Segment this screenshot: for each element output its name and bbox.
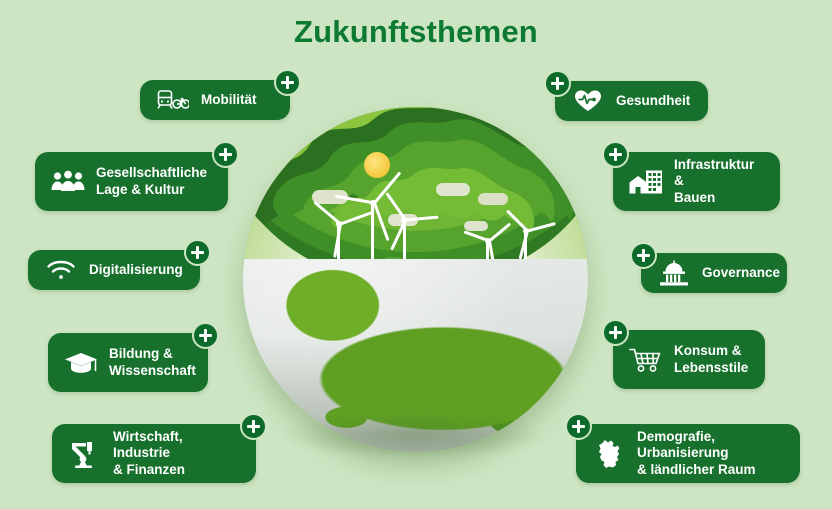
expand-button[interactable] — [602, 141, 629, 168]
government-dome-icon — [657, 258, 691, 288]
topic-label: Wirtschaft, Industrie & Finanzen — [113, 429, 240, 478]
page-title: Zukunftsthemen — [0, 14, 832, 50]
expand-button[interactable] — [192, 322, 219, 349]
expand-button[interactable] — [630, 242, 657, 269]
topic-label: Infrastruktur & Bauen — [674, 157, 764, 206]
topic-pill-governance[interactable]: Governance — [641, 253, 787, 293]
germany-map-icon — [592, 439, 626, 469]
topic-label: Konsum & Lebensstile — [674, 343, 748, 376]
heart-pulse-icon — [571, 86, 605, 116]
expand-button[interactable] — [274, 69, 301, 96]
expand-button[interactable] — [184, 239, 211, 266]
train-bicycle-icon — [156, 85, 190, 115]
topic-label: Digitalisierung — [89, 262, 183, 278]
robot-arm-icon — [68, 439, 102, 469]
topic-pill-demografie-urbanisierung[interactable]: Demografie, Urbanisierung & ländlicher R… — [576, 424, 800, 483]
sustainable-world-globe-illustration — [243, 107, 588, 452]
topic-pill-mobilitaet[interactable]: Mobilität — [140, 80, 290, 120]
sun-icon — [364, 152, 390, 178]
cloud-icon — [436, 183, 470, 196]
shopping-cart-icon — [629, 345, 663, 375]
topic-label: Demografie, Urbanisierung & ländlicher R… — [637, 429, 784, 478]
globe — [243, 107, 588, 452]
expand-button[interactable] — [565, 413, 592, 440]
topic-label: Governance — [702, 265, 780, 281]
expand-button[interactable] — [212, 141, 239, 168]
topic-label: Gesundheit — [616, 93, 690, 109]
topic-label: Mobilität — [201, 92, 257, 108]
topic-label: Gesellschaftliche Lage & Kultur — [96, 165, 207, 198]
topic-pill-digitalisierung[interactable]: Digitalisierung — [28, 250, 200, 290]
expand-button[interactable] — [240, 413, 267, 440]
topic-pill-bildung-wissenschaft[interactable]: Bildung & Wissenschaft — [48, 333, 208, 392]
infographic-stage: Zukunftsthemen — [0, 0, 832, 509]
topic-pill-gesundheit[interactable]: Gesundheit — [555, 81, 708, 121]
wifi-icon — [44, 255, 78, 285]
topic-pill-infrastruktur-bauen[interactable]: Infrastruktur & Bauen — [613, 152, 780, 211]
cloud-icon — [464, 221, 488, 231]
topic-pill-gesellschaftliche-lage-kultur[interactable]: Gesellschaftliche Lage & Kultur — [35, 152, 228, 211]
cloud-icon — [478, 193, 508, 205]
graduation-cap-icon — [64, 348, 98, 378]
expand-button[interactable] — [544, 70, 571, 97]
topic-pill-wirtschaft-industrie-finanzen[interactable]: Wirtschaft, Industrie & Finanzen — [52, 424, 256, 483]
topic-pill-konsum-lebensstile[interactable]: Konsum & Lebensstile — [613, 330, 765, 389]
house-building-icon — [629, 167, 663, 197]
topic-label: Bildung & Wissenschaft — [109, 346, 196, 379]
globe-shadow — [284, 411, 546, 459]
expand-button[interactable] — [602, 319, 629, 346]
people-group-icon — [51, 167, 85, 197]
